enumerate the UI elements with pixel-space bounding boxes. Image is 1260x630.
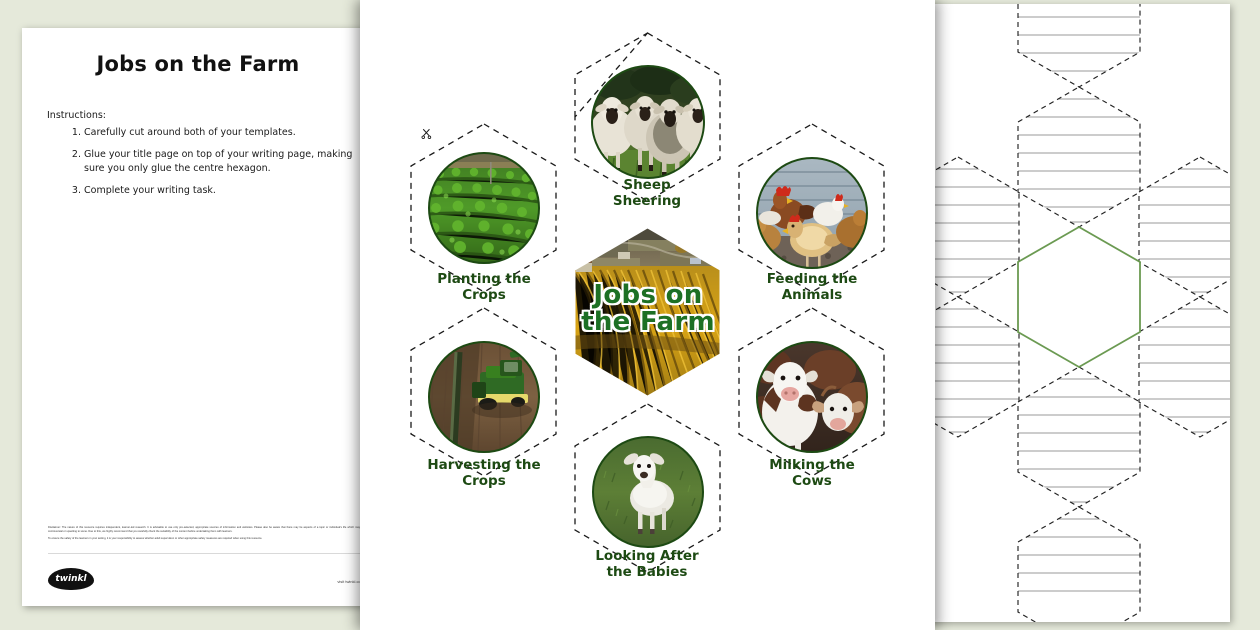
combine-harvester-photo <box>429 342 540 452</box>
disclaimer-paragraph: To ensure the safety of the learners in … <box>48 537 364 542</box>
footer-divider <box>48 553 364 554</box>
screenshot-stage: Jobs on the Farm Instructions: Carefully… <box>0 0 1260 630</box>
title-template-page: Sheep Sheering Feeding the Animals Milki… <box>360 0 935 630</box>
sheep-flock-photo <box>590 65 716 178</box>
instructions-list: Carefully cut around both of your templa… <box>66 126 362 207</box>
instructions-page: Jobs on the Farm Instructions: Carefully… <box>22 28 374 606</box>
page-title: Jobs on the Farm <box>22 52 374 76</box>
chickens-photo <box>747 158 874 268</box>
instruction-step: Carefully cut around both of your templa… <box>84 126 362 139</box>
hexagon-lines-template <box>928 4 1230 622</box>
instruction-step: Complete your writing task. <box>84 184 362 197</box>
disclaimer-paragraph: Disclaimer: The nature of this resource … <box>48 526 364 535</box>
cows-photo <box>742 342 881 454</box>
disclaimer-text: Disclaimer: The nature of this resource … <box>48 526 364 544</box>
instruction-step: Glue your title page on top of your writ… <box>84 148 362 175</box>
lamb-photo <box>593 437 703 547</box>
writing-lines-page <box>928 4 1230 622</box>
scissors-icon <box>422 129 431 138</box>
instructions-label: Instructions: <box>47 110 106 121</box>
twinkl-logo: twinkl <box>48 568 94 590</box>
centre-hexagon-outline <box>1018 227 1140 367</box>
crop-field-photo <box>428 153 539 264</box>
centre-hexagon-title: Jobs on the Farm <box>548 282 748 337</box>
